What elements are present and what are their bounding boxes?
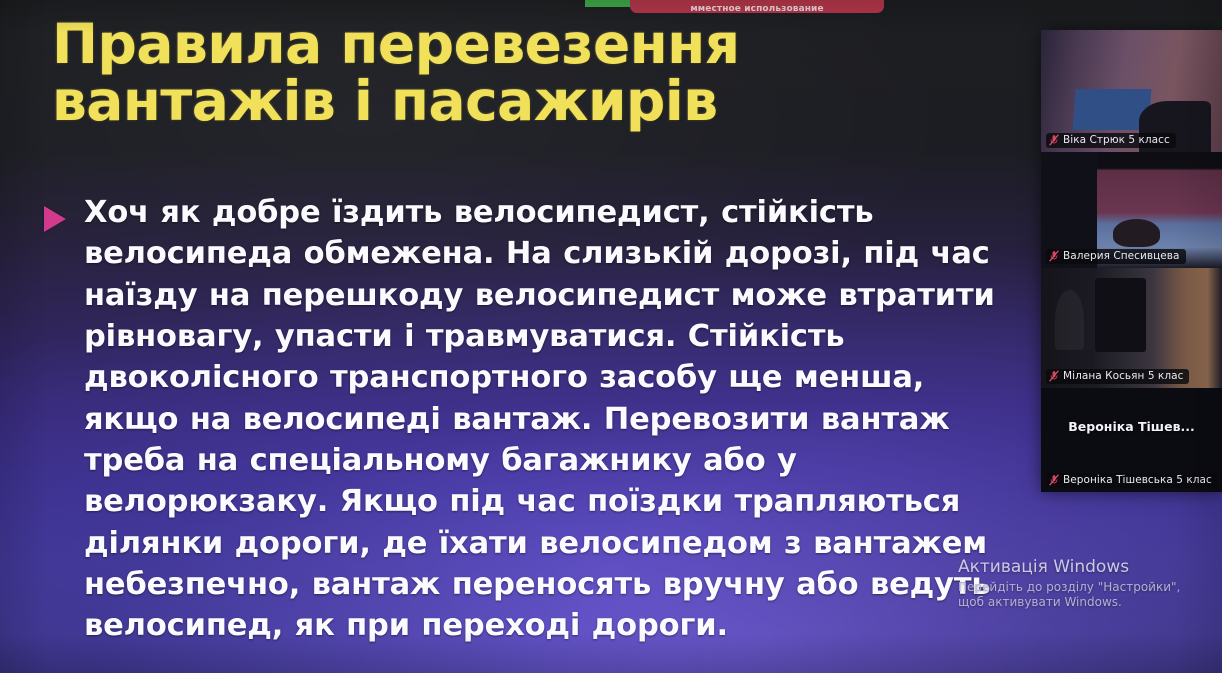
share-strip-red-banner[interactable]: мместное использование — [630, 0, 884, 13]
microphone-muted-icon — [1049, 474, 1059, 486]
participant-nameplate: Віка Стрюк 5 класс — [1046, 133, 1176, 148]
slide-title: Правила перевезення вантажів і пасажирів — [52, 16, 1002, 129]
triangle-bullet-icon — [44, 206, 66, 232]
participant-tile[interactable]: Віка Стрюк 5 класс — [1041, 30, 1222, 152]
video-participants-panel[interactable]: Віка Стрюк 5 класс Валерия Спесивцева — [1041, 30, 1222, 492]
microphone-muted-icon — [1049, 370, 1059, 382]
participant-tile[interactable]: Вероніка Тішев... Вероніка Тішевська 5 к… — [1041, 388, 1222, 492]
participant-name: Валерия Спесивцева — [1063, 250, 1180, 262]
participant-name: Вероніка Тішевська 5 клас — [1063, 474, 1212, 486]
screen-share-strip: мместное использование — [0, 0, 1222, 14]
participant-nameplate: Валерия Спесивцева — [1046, 249, 1186, 264]
participant-display-name: Вероніка Тішев... — [1041, 419, 1222, 434]
participant-tile[interactable]: Мілана Косьян 5 клас — [1041, 268, 1222, 388]
participant-nameplate: Вероніка Тішевська 5 клас — [1046, 473, 1218, 488]
participant-name: Мілана Косьян 5 клас — [1063, 370, 1183, 382]
participant-name: Віка Стрюк 5 класс — [1063, 134, 1170, 146]
participant-tile[interactable]: Валерия Спесивцева — [1041, 152, 1222, 268]
microphone-muted-icon — [1049, 134, 1059, 146]
share-strip-label: мместное использование — [630, 4, 884, 13]
slide-body-text: Хоч як добре їздить велосипедист, стійкі… — [84, 192, 1004, 646]
participant-nameplate: Мілана Косьян 5 клас — [1046, 369, 1189, 384]
slide-bullet-item: Хоч як добре їздить велосипедист, стійкі… — [44, 192, 1004, 646]
microphone-muted-icon — [1049, 250, 1059, 262]
share-strip-green-segment — [585, 0, 633, 7]
screen-capture: мместное использование Правила перевезен… — [0, 0, 1222, 673]
